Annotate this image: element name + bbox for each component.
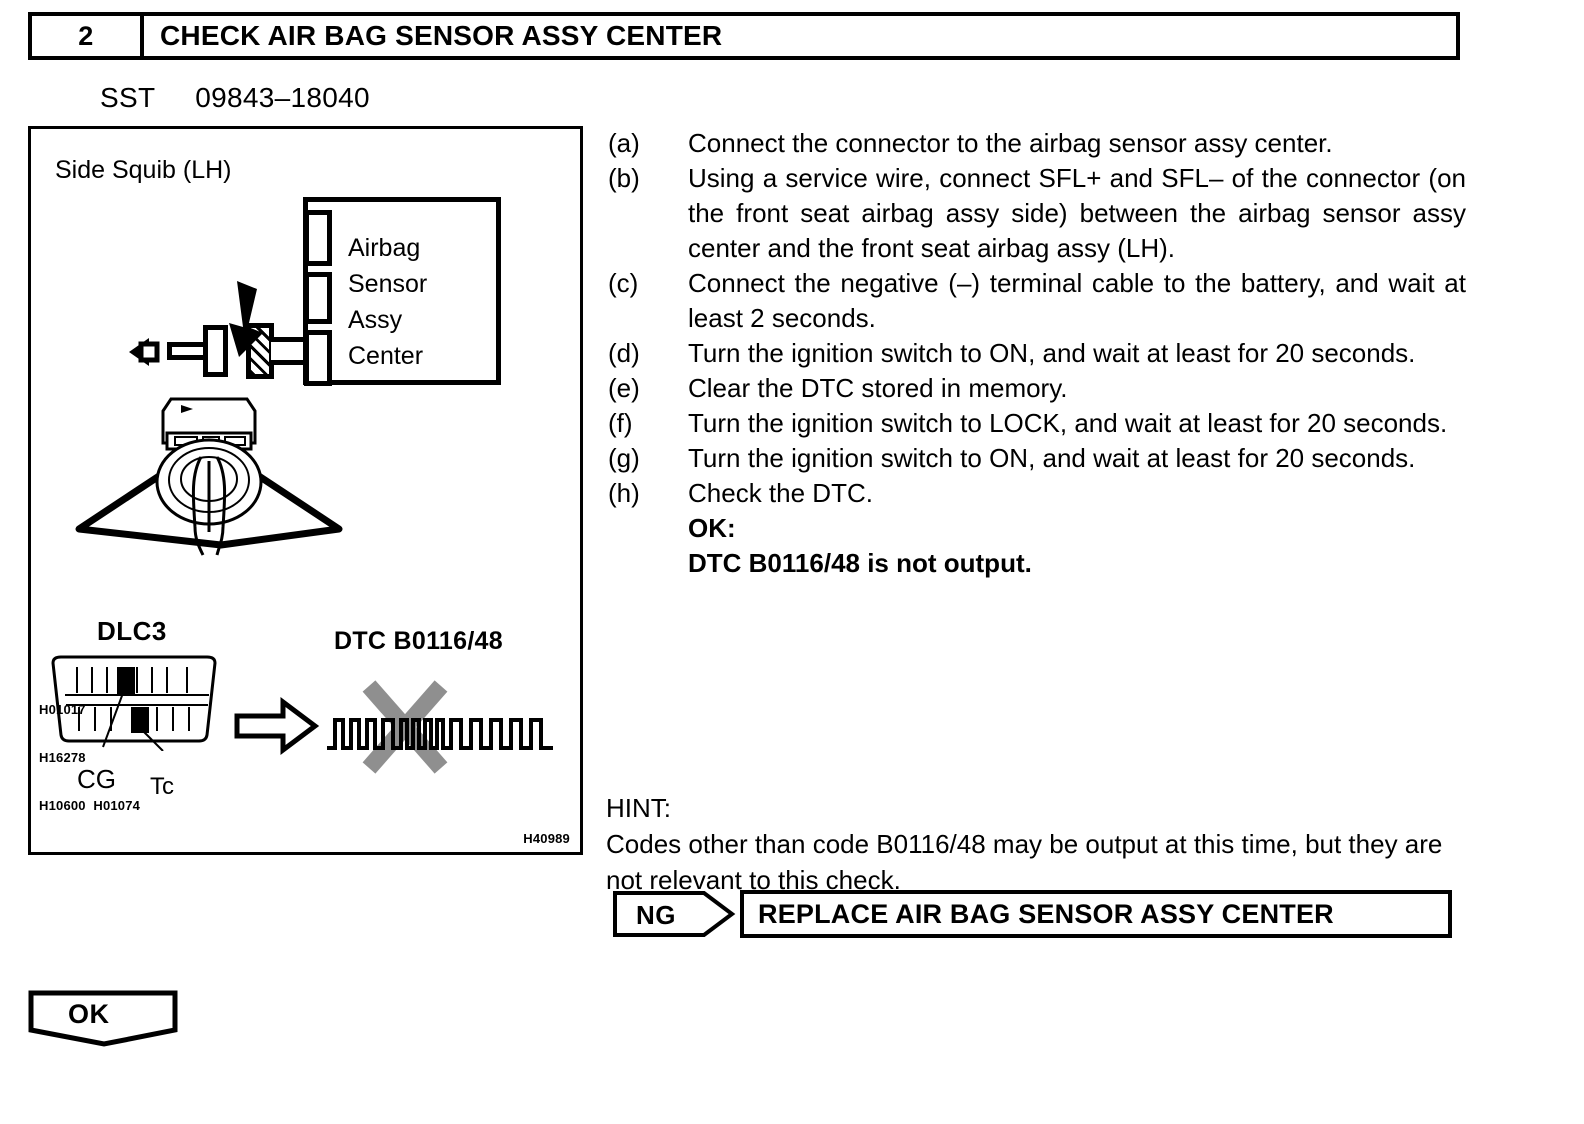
connector-with-service-wire-illustration bbox=[61, 387, 361, 577]
ok-heading-row: OK: bbox=[608, 511, 1466, 546]
figure-code: H01017 bbox=[39, 702, 140, 718]
sensor-box-label-line: Assy bbox=[348, 302, 427, 338]
step-number: 2 bbox=[32, 16, 144, 56]
step-header-bar: 2 CHECK AIR BAG SENSOR ASSY CENTER bbox=[28, 12, 1460, 60]
step-text: Turn the ignition switch to ON, and wait… bbox=[688, 336, 1466, 371]
dtc-waveform-label: DTC B0116/48 bbox=[334, 627, 503, 656]
hint-body: Codes other than code B0116/48 may be ou… bbox=[606, 826, 1468, 898]
figure-code: H16278 bbox=[39, 750, 140, 766]
instruction-step: (g) Turn the ignition switch to ON, and … bbox=[608, 441, 1466, 476]
ng-result-bar: NG REPLACE AIR BAG SENSOR ASSY CENTER bbox=[612, 890, 1452, 938]
step-text: Using a service wire, connect SFL+ and S… bbox=[688, 161, 1466, 266]
side-squib-label: Side Squib (LH) bbox=[55, 156, 231, 185]
down-arrow-icon bbox=[217, 279, 277, 359]
ok-result-banner: OK bbox=[28, 990, 178, 1048]
airbag-sensor-assy-center-box: Airbag Sensor Assy Center bbox=[303, 197, 501, 385]
step-marker: (h) bbox=[608, 476, 688, 511]
step-marker: (a) bbox=[608, 126, 688, 161]
figure-reference-codes: H01017 H16278 H10600 H01074 bbox=[39, 670, 140, 846]
step-marker: (b) bbox=[608, 161, 688, 196]
step-title: CHECK AIR BAG SENSOR ASSY CENTER bbox=[144, 16, 1456, 56]
ok-banner-label: OK bbox=[68, 999, 110, 1030]
dlc3-pin-label-tc: Tc bbox=[150, 773, 174, 801]
hint-block: HINT: Codes other than code B0116/48 may… bbox=[606, 790, 1468, 898]
instruction-step: (h) Check the DTC. bbox=[608, 476, 1466, 511]
ok-condition-row: DTC B0116/48 is not output. bbox=[608, 546, 1466, 581]
sensor-box-label-line: Sensor bbox=[348, 266, 427, 302]
ng-tag-label: NG bbox=[636, 900, 676, 931]
step-marker: (c) bbox=[608, 266, 688, 301]
ok-heading: OK: bbox=[688, 511, 1466, 546]
step-text: Turn the ignition switch to ON, and wait… bbox=[688, 441, 1466, 476]
sensor-box-label-line: Airbag bbox=[348, 230, 427, 266]
hint-heading: HINT: bbox=[606, 790, 1468, 826]
right-arrow-icon bbox=[237, 702, 315, 750]
sensor-connector-tab bbox=[304, 210, 332, 266]
instruction-step: (e) Clear the DTC stored in memory. bbox=[608, 371, 1466, 406]
dtc-waveform-diagram bbox=[231, 664, 579, 774]
sensor-box-label-line: Center bbox=[348, 338, 427, 374]
step-text: Clear the DTC stored in memory. bbox=[688, 371, 1466, 406]
sst-part-number-line: SST 09843–18040 bbox=[100, 82, 370, 114]
step-marker: (f) bbox=[608, 406, 688, 441]
instruction-step: (b) Using a service wire, connect SFL+ a… bbox=[608, 161, 1466, 266]
instruction-step: (a) Connect the connector to the airbag … bbox=[608, 126, 1466, 161]
instruction-step: (d) Turn the ignition switch to ON, and … bbox=[608, 336, 1466, 371]
sensor-connector-tab bbox=[304, 330, 332, 386]
step-text: Turn the ignition switch to LOCK, and wa… bbox=[688, 406, 1466, 441]
sensor-box-label: Airbag Sensor Assy Center bbox=[348, 230, 427, 374]
ok-condition: DTC B0116/48 is not output. bbox=[688, 546, 1466, 581]
step-text: Connect the negative (–) terminal cable … bbox=[688, 266, 1466, 336]
figure-panel: Side Squib (LH) Airbag Sensor Assy Cente… bbox=[28, 126, 583, 855]
step-text: Check the DTC. bbox=[688, 476, 1466, 511]
sensor-connector-tab bbox=[304, 272, 332, 324]
ng-action-label: REPLACE AIR BAG SENSOR ASSY CENTER bbox=[740, 890, 1452, 938]
instruction-step: (c) Connect the negative (–) terminal ca… bbox=[608, 266, 1466, 336]
instruction-step: (f) Turn the ignition switch to LOCK, an… bbox=[608, 406, 1466, 441]
step-text: Connect the connector to the airbag sens… bbox=[688, 126, 1466, 161]
step-marker: (e) bbox=[608, 371, 688, 406]
instruction-list: (a) Connect the connector to the airbag … bbox=[608, 126, 1466, 581]
step-marker: (g) bbox=[608, 441, 688, 476]
figure-code-right: H40989 bbox=[523, 831, 570, 846]
figure-code: H10600 H01074 bbox=[39, 798, 140, 814]
dlc3-label: DLC3 bbox=[97, 616, 167, 647]
step-marker: (d) bbox=[608, 336, 688, 371]
